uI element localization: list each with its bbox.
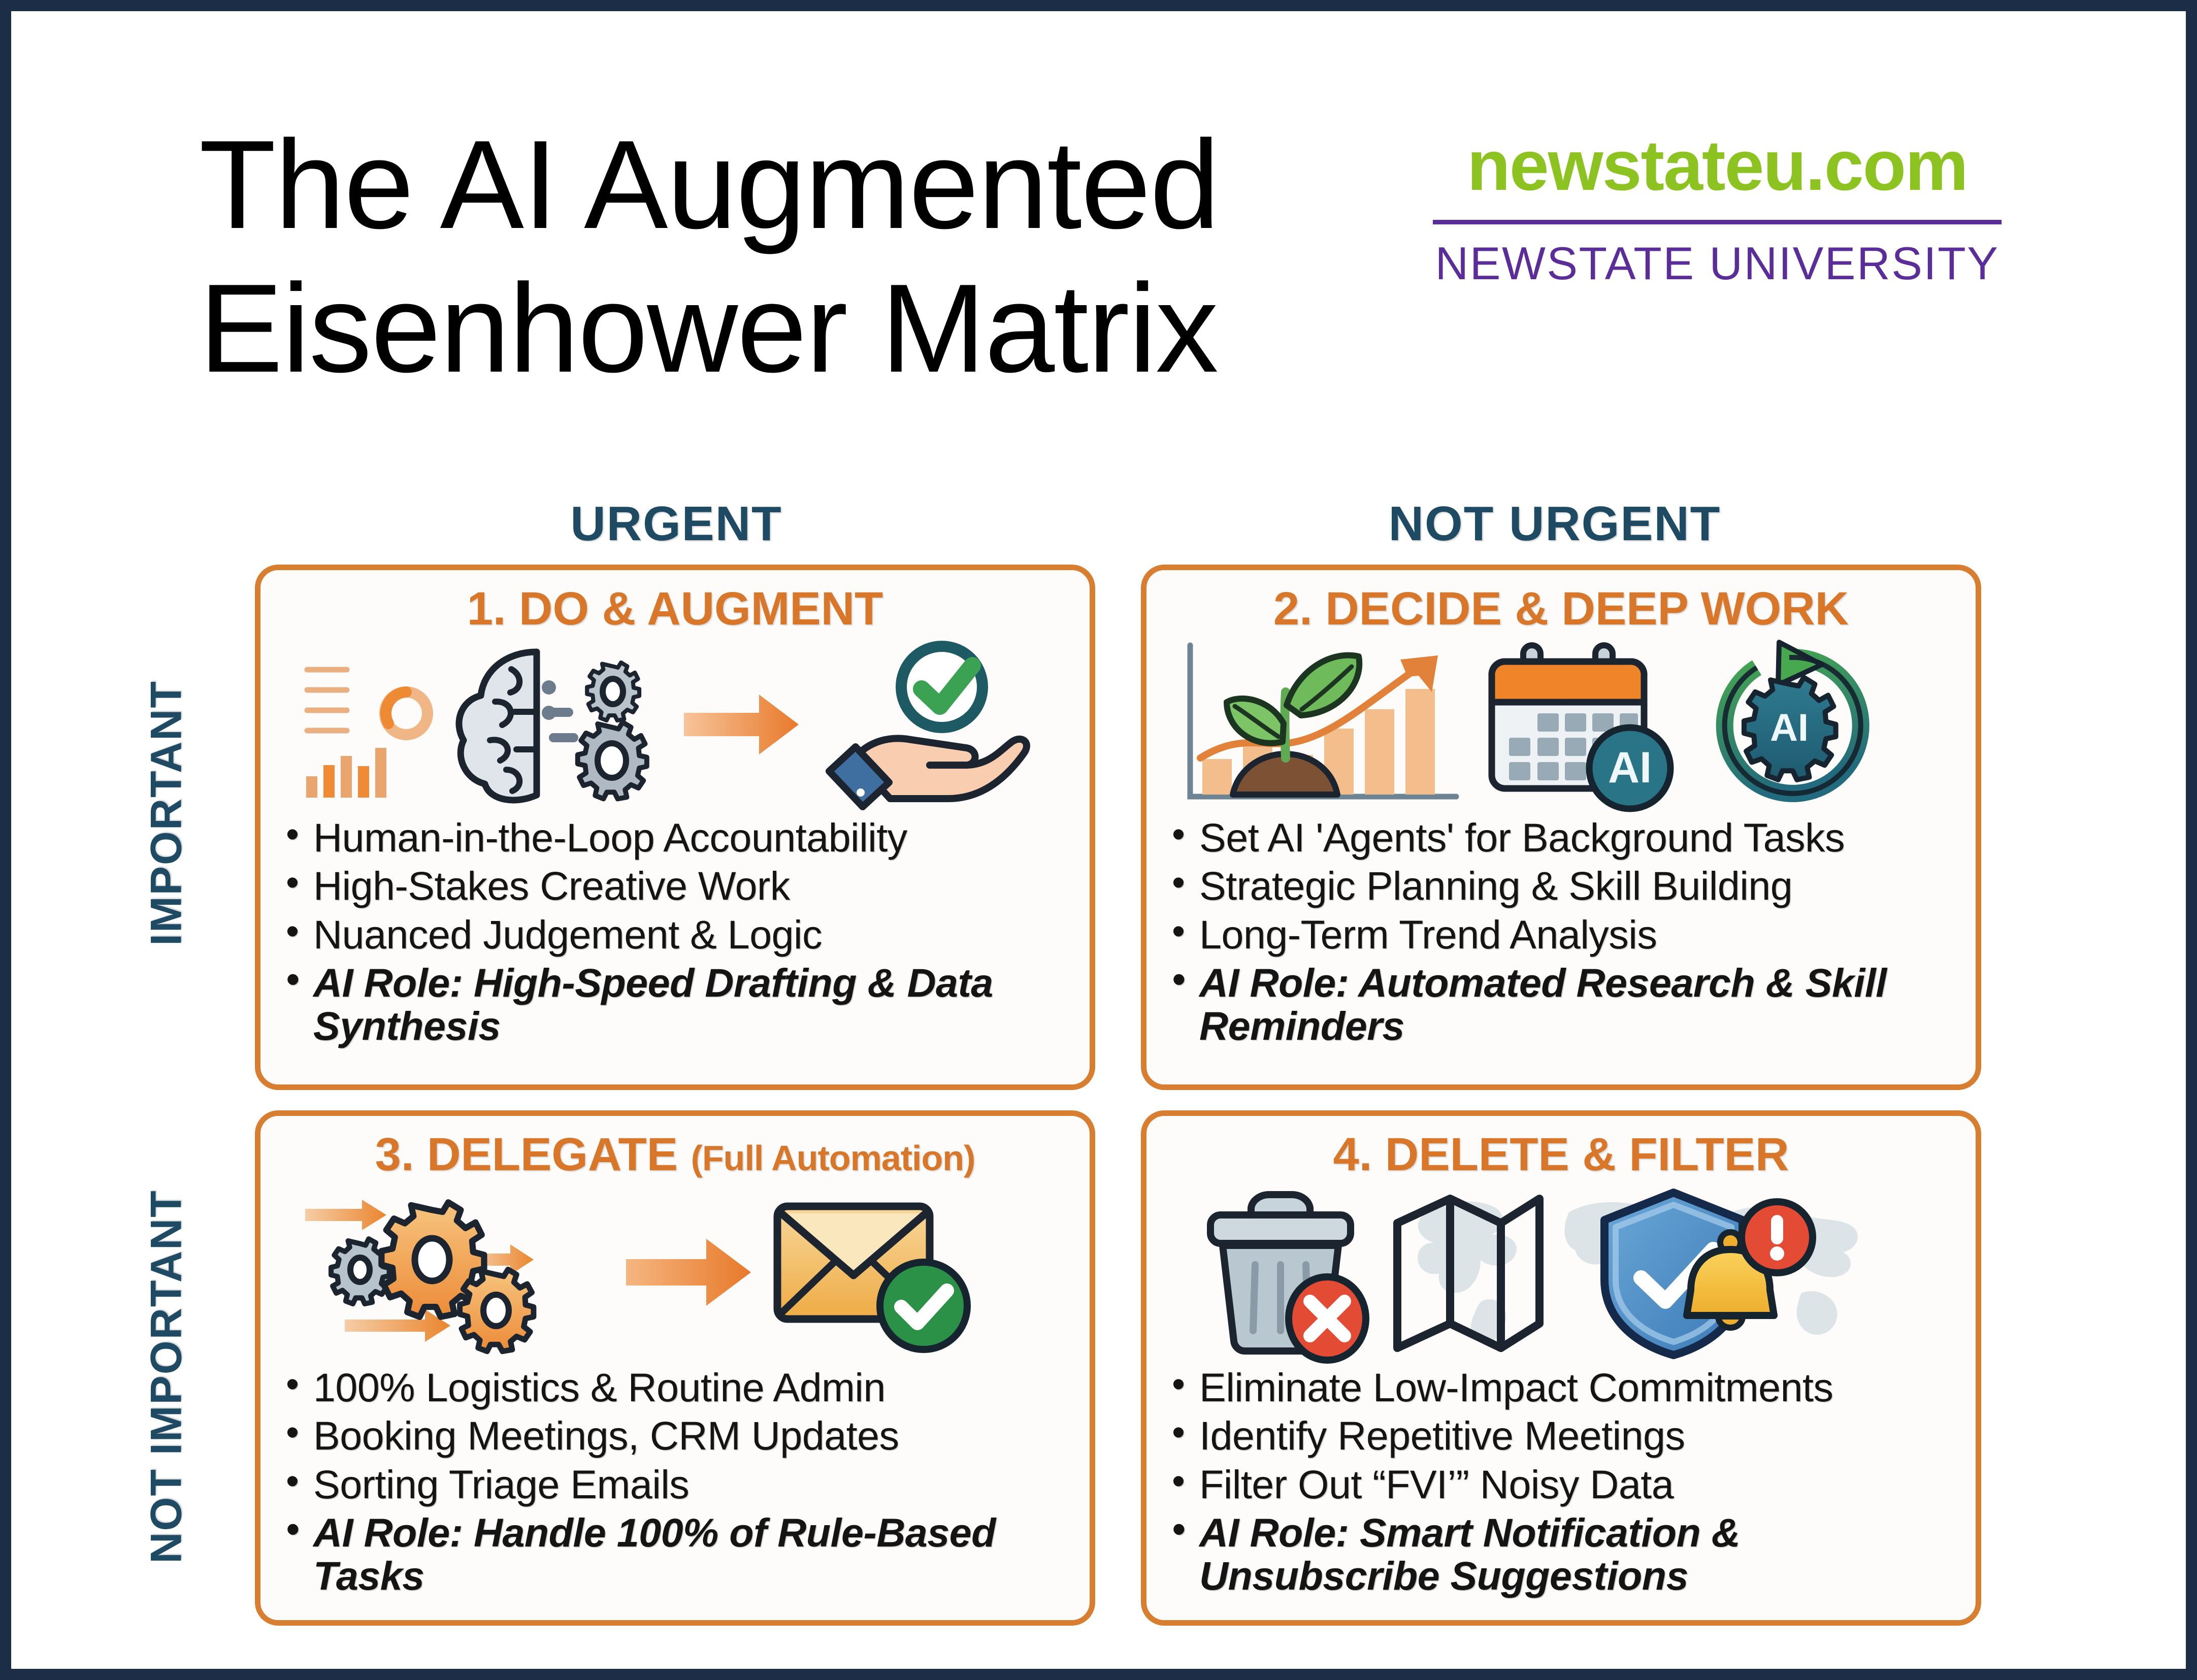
quadrant-1-title: 1. DO & AUGMENT [282, 585, 1068, 632]
list-item: Filter Out “FVI’” Noisy Data [1168, 1463, 1954, 1506]
svg-text:AI: AI [1608, 743, 1652, 792]
quadrant-1-icons [282, 635, 1068, 814]
quadrant-delegate[interactable]: 3. DELEGATE (Full Automation) [255, 1110, 1095, 1626]
svg-text:AI: AI [1770, 706, 1809, 749]
quadrant-3-title: 3. DELEGATE (Full Automation) [282, 1131, 1068, 1178]
calendar-ai-icon: AI [1481, 638, 1684, 811]
page-title: The AI Augmented Eisenhower Matrix [199, 113, 1377, 400]
list-item-ai-role: AI Role: High-Speed Drafting & Data Synt… [282, 961, 1068, 1048]
quadrant-2-title: 2. DECIDE & DEEP WORK [1168, 585, 1954, 632]
quadrant-3-title-sub: (Full Automation) [691, 1138, 975, 1178]
list-item: High-Stakes Creative Work [282, 864, 1068, 907]
eisenhower-matrix-grid: 1. DO & AUGMENT [255, 565, 1981, 1626]
brand-logo: newstateu.com NEWSTATE UNIVERSITY [1433, 128, 2002, 290]
orange-arrow-icon [626, 1232, 753, 1313]
gears-arrows-icon [302, 1183, 617, 1361]
list-item: Eliminate Low-Impact Commitments [1168, 1366, 1954, 1409]
title-line-1: The AI Augmented [199, 113, 1377, 256]
logo-domain-text: newstateu.com [1433, 128, 2002, 203]
infographic-page: The AI Augmented Eisenhower Matrix newst… [0, 0, 2197, 1680]
quadrant-decide-and-deep-work[interactable]: 2. DECIDE & DEEP WORK [1141, 565, 1981, 1090]
trash-x-icon [1198, 1183, 1366, 1361]
quadrant-do-and-augment[interactable]: 1. DO & AUGMENT [255, 565, 1095, 1090]
quadrant-2-bullets: Set AI 'Agents' for Background Tasks Str… [1168, 816, 1954, 1053]
list-item: Nuanced Judgement & Logic [282, 913, 1068, 956]
quadrant-3-title-main: 3. DELEGATE [375, 1129, 678, 1180]
quadrant-4-bullets: Eliminate Low-Impact Commitments Identif… [1168, 1366, 1954, 1603]
shield-bell-alert-icon [1592, 1183, 1811, 1361]
axis-label-important: IMPORTANT [142, 671, 192, 956]
quadrant-delete-and-filter[interactable]: 4. DELETE & FILTER [1141, 1110, 1981, 1626]
list-item: Identify Repetitive Meetings [1168, 1414, 1954, 1457]
orange-arrow-icon [684, 686, 801, 763]
list-item-ai-role: AI Role: Handle 100% of Rule-Based Tasks [282, 1511, 1068, 1598]
hand-check-icon [814, 638, 1032, 811]
list-item: Set AI 'Agents' for Background Tasks [1168, 816, 1954, 859]
growth-chart-plant-icon [1178, 638, 1462, 811]
list-item-ai-role: AI Role: Automated Research & Skill Remi… [1168, 961, 1954, 1048]
axis-label-not-important: NOT IMPORTANT [142, 1184, 192, 1570]
list-item: Strategic Planning & Skill Building [1168, 864, 1954, 907]
list-item: Long-Term Trend Analysis [1168, 913, 1954, 956]
quadrant-2-icons: AI [1168, 635, 1954, 814]
title-line-2: Eisenhower Matrix [199, 256, 1377, 400]
list-item: Sorting Triage Emails [282, 1463, 1068, 1506]
quadrant-3-bullets: 100% Logistics & Routine Admin Booking M… [282, 1366, 1068, 1603]
ai-gear-refresh-icon: AI [1698, 638, 1881, 811]
quadrant-4-icons [1168, 1181, 1954, 1364]
quadrant-1-bullets: Human-in-the-Loop Accountability High-St… [282, 816, 1068, 1053]
list-item: Booking Meetings, CRM Updates [282, 1414, 1068, 1457]
axis-label-urgent: URGENT [255, 496, 1098, 552]
list-item: Human-in-the-Loop Accountability [282, 816, 1068, 859]
logo-divider [1433, 220, 2002, 224]
logo-university-text: NEWSTATE UNIVERSITY [1433, 238, 2002, 290]
list-item: 100% Logistics & Routine Admin [282, 1366, 1068, 1409]
list-item-ai-role: AI Role: Smart Notification & Unsubscrib… [1168, 1511, 1954, 1598]
axis-label-not-urgent: NOT URGENT [1133, 496, 1976, 552]
brain-gears-icon [435, 641, 679, 808]
quadrant-3-icons [282, 1181, 1068, 1364]
envelope-check-icon [766, 1186, 974, 1359]
folded-map-icon [1384, 1183, 1552, 1361]
header: The AI Augmented Eisenhower Matrix newst… [11, 97, 2186, 422]
donut-chart-icon [373, 648, 439, 801]
